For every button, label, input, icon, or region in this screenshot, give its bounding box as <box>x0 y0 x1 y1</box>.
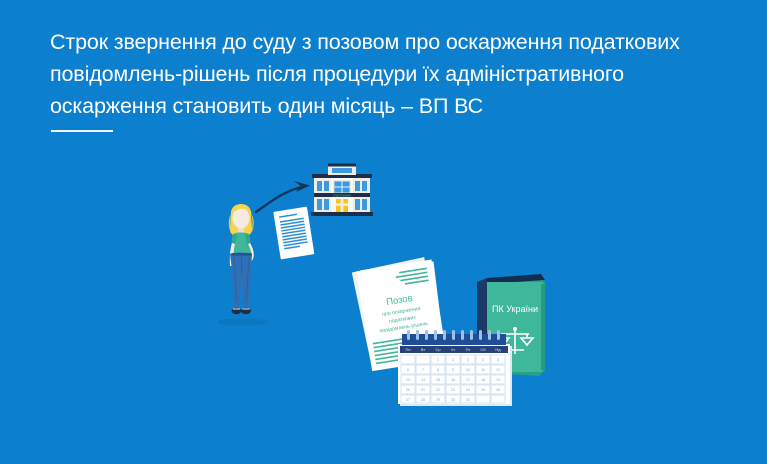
courthouse-building: Суд України <box>310 162 374 220</box>
svg-text:13: 13 <box>406 378 410 382</box>
svg-text:25: 25 <box>481 388 485 392</box>
svg-text:22: 22 <box>436 388 440 392</box>
svg-text:26: 26 <box>496 388 500 392</box>
svg-text:18: 18 <box>481 378 485 382</box>
calendar-weekday: Вт <box>421 347 426 352</box>
calendar-weekday: Ср <box>435 347 441 352</box>
svg-text:20: 20 <box>406 388 410 392</box>
svg-text:2: 2 <box>452 358 454 362</box>
calendar-weekday: Нд <box>495 347 501 352</box>
desk-calendar: Пн Вт Ср Чт Пт Сб Нд <box>396 330 516 410</box>
svg-text:1: 1 <box>437 358 439 362</box>
svg-text:28: 28 <box>421 398 425 402</box>
calendar-weekday: Сб <box>480 347 486 352</box>
svg-text:29: 29 <box>436 398 440 402</box>
svg-text:5: 5 <box>497 358 499 362</box>
illustration-stage: Строк звернення до суду з позовом про ос… <box>0 0 767 464</box>
calendar-weekday: Пт <box>466 347 471 352</box>
svg-text:3: 3 <box>467 358 469 362</box>
book-title: ПК України <box>492 304 538 314</box>
svg-text:17: 17 <box>466 378 470 382</box>
title-divider <box>51 130 113 132</box>
svg-text:12: 12 <box>496 368 500 372</box>
svg-text:16: 16 <box>451 378 455 382</box>
woman-figure <box>218 196 280 326</box>
svg-text:30: 30 <box>451 398 455 402</box>
svg-text:14: 14 <box>421 378 425 382</box>
svg-text:23: 23 <box>451 388 455 392</box>
svg-text:15: 15 <box>436 378 440 382</box>
svg-text:8: 8 <box>437 368 439 372</box>
svg-text:7: 7 <box>422 368 424 372</box>
page-title: Строк звернення до суду з позовом про ос… <box>50 26 740 122</box>
calendar-weekday: Чт <box>451 347 456 352</box>
svg-text:21: 21 <box>421 388 425 392</box>
svg-text:11: 11 <box>481 368 485 372</box>
svg-text:10: 10 <box>466 368 470 372</box>
svg-text:4: 4 <box>482 358 484 362</box>
svg-text:31: 31 <box>466 398 470 402</box>
courthouse-sign-text: Суд України <box>333 193 351 197</box>
svg-text:19: 19 <box>496 378 500 382</box>
svg-text:9: 9 <box>452 368 454 372</box>
svg-text:24: 24 <box>466 388 470 392</box>
svg-text:6: 6 <box>407 368 409 372</box>
calendar-weekday: Пн <box>405 347 410 352</box>
svg-text:27: 27 <box>406 398 410 402</box>
